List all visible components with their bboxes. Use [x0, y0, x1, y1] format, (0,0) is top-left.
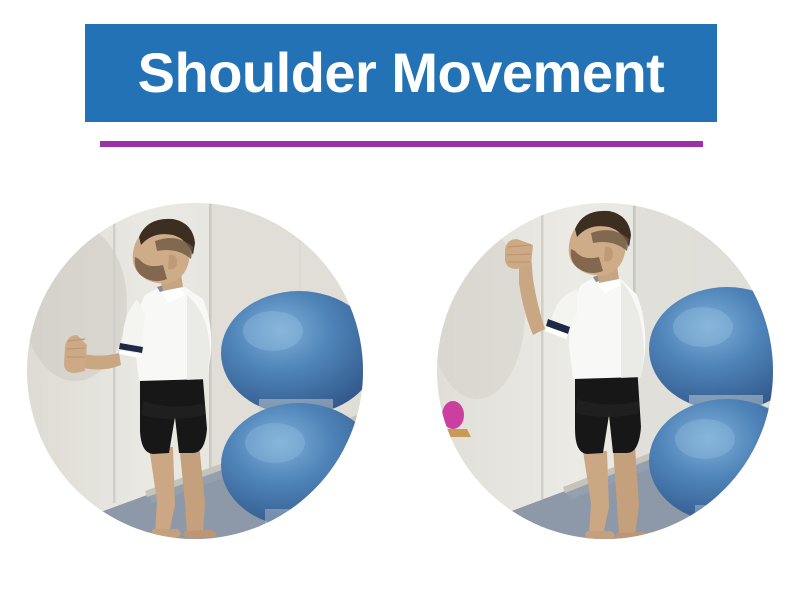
end-position-illustration [437, 203, 773, 539]
title-banner: Shoulder Movement [85, 24, 717, 122]
ball-highlight [673, 307, 733, 347]
foot-rear [615, 532, 648, 539]
ball-stand [265, 509, 327, 535]
wooden-stool [439, 429, 471, 437]
pink-object [442, 401, 464, 429]
figure-end-position [437, 203, 773, 539]
start-position-illustration [27, 203, 363, 539]
stool-leg [445, 437, 449, 453]
wall-seam [541, 203, 544, 503]
figure-start-position [27, 203, 363, 539]
wall-seam [113, 203, 116, 503]
page-title: Shoulder Movement [138, 45, 665, 101]
ball-highlight [675, 419, 735, 459]
ball-stand [695, 505, 757, 531]
foot-front [585, 531, 614, 539]
title-accent-rule [100, 141, 703, 147]
ball-highlight [243, 311, 303, 351]
foot-front [151, 529, 180, 538]
ball-highlight [245, 423, 305, 463]
